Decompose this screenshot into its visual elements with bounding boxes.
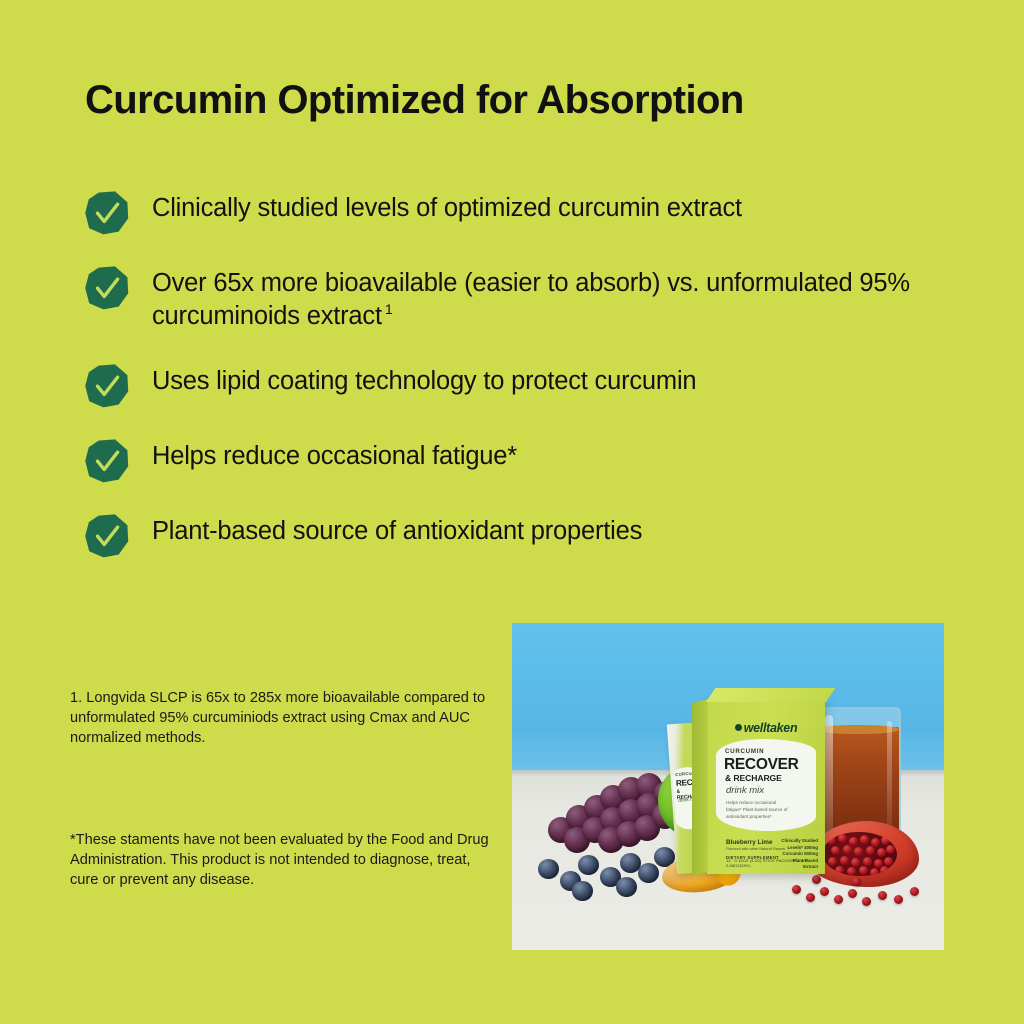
product-net-weight: 14 · 0.15OZ (4.2G) STICK PACKS/NET WT. 2…: [726, 858, 818, 868]
product-name: RECOVER: [724, 756, 799, 774]
page-title: Curcumin Optimized for Absorption: [85, 78, 965, 122]
product-photo: CURCUMIN RECOVER & RECHARGE drink mix we…: [512, 623, 944, 950]
list-item-label: Helps reduce occasional fatigue*: [152, 436, 517, 473]
list-item: Over 65x more bioavailable (easier to ab…: [84, 263, 964, 332]
footnote-disclaimer: *These staments have not been evaluated …: [70, 830, 490, 890]
list-item: Clinically studied levels of optimized c…: [84, 188, 964, 234]
product-category: CURCUMIN: [725, 748, 764, 755]
footnote-marker: 1: [382, 302, 393, 318]
product-claims: Helps reduce occasional fatigue* Plant-b…: [726, 800, 792, 821]
check-octagon-icon: [84, 190, 130, 236]
pomegranate-arils: [823, 832, 897, 876]
list-item-label: Plant-based source of antioxidant proper…: [152, 511, 642, 548]
check-octagon-icon: [84, 513, 130, 559]
list-item-text: Over 65x more bioavailable (easier to ab…: [152, 269, 910, 330]
list-item: Plant-based source of antioxidant proper…: [84, 511, 964, 557]
product-name-second: & RECHARGE: [725, 773, 782, 783]
product-form: drink mix: [726, 785, 764, 796]
list-item-label: Clinically studied levels of optimized c…: [152, 188, 742, 225]
check-octagon-icon: [84, 265, 130, 311]
brand-mark-icon: [735, 724, 742, 731]
product-box-side-panel: [692, 699, 708, 876]
footnote-reference: 1. Longvida SLCP is 65x to 285x more bio…: [70, 688, 490, 748]
list-item-label: Over 65x more bioavailable (easier to ab…: [152, 263, 964, 332]
check-octagon-icon: [84, 363, 130, 409]
product-flavor: Blueberry Lime: [726, 839, 773, 846]
benefits-list: Clinically studied levels of optimized c…: [84, 188, 964, 557]
product-box: welltaken CURCUMIN RECOVER & RECHARGE dr…: [707, 699, 825, 874]
brand-name: welltaken: [744, 721, 798, 735]
product-flavor-subtext: Flavored with other Natural Flavors: [726, 847, 785, 851]
list-item-label: Uses lipid coating technology to protect…: [152, 361, 696, 398]
product-box-top-panel: [706, 688, 835, 702]
check-octagon-icon: [84, 438, 130, 484]
brand-logo: welltaken: [707, 721, 825, 735]
list-item: Uses lipid coating technology to protect…: [84, 361, 964, 407]
list-item: Helps reduce occasional fatigue*: [84, 436, 964, 482]
